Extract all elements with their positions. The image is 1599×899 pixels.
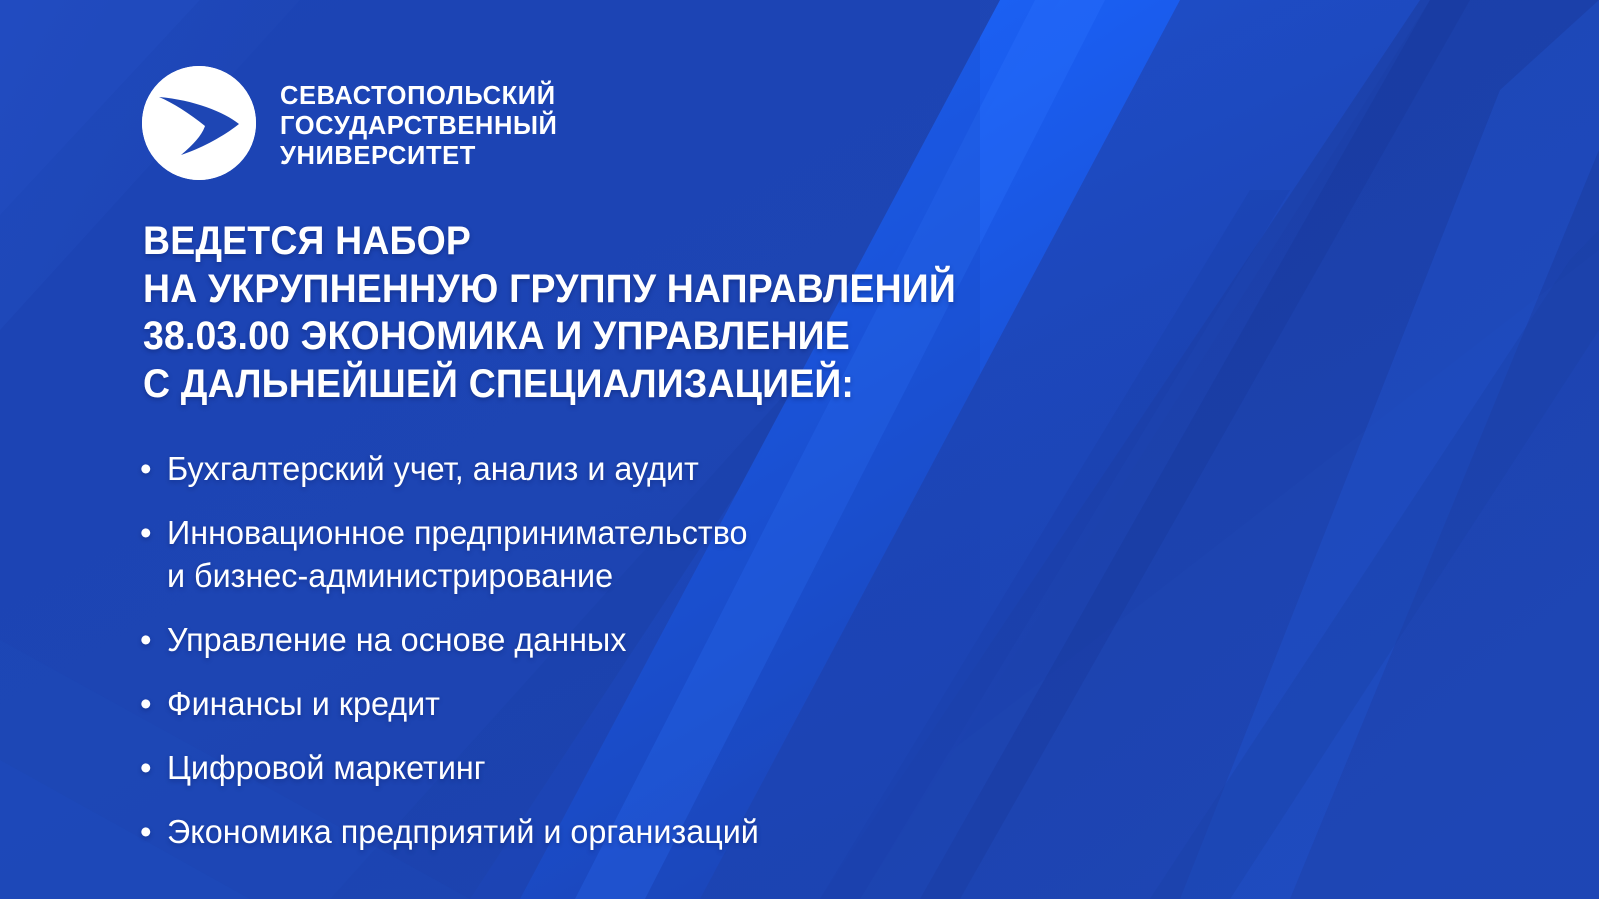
bullet-marker-icon: • [140, 618, 167, 661]
bullet-marker-icon: • [140, 746, 167, 789]
list-item-label: Бухгалтерский учет, анализ и аудит [167, 447, 699, 490]
bullet-marker-icon: • [140, 447, 167, 490]
list-item-label: Финансы и кредит [167, 682, 440, 725]
university-wordmark: СЕВАСТОПОЛЬСКИЙ ГОСУДАРСТВЕННЫЙ УНИВЕРСИ… [280, 81, 557, 171]
headline-line-4: С ДАЛЬНЕЙШЕЙ СПЕЦИАЛИЗАЦИЕЙ: [143, 361, 956, 409]
university-logo-lockup: СЕВАСТОПОЛЬСКИЙ ГОСУДАРСТВЕННЫЙ УНИВЕРСИ… [142, 66, 557, 180]
list-item-label: Экономика предприятий и организаций [167, 810, 759, 853]
headline-line-2: НА УКРУПНЕННУЮ ГРУППУ НАПРАВЛЕНИЙ [143, 266, 956, 314]
list-item: • Экономика предприятий и организаций [140, 810, 771, 853]
bullet-marker-icon: • [140, 682, 167, 725]
list-item: • Цифровой маркетинг [140, 746, 771, 789]
list-item-label: Цифровой маркетинг [167, 746, 486, 789]
headline-line-1: ВЕДЕТСЯ НАБОР [143, 218, 956, 266]
list-item-label: Управление на основе данных [167, 618, 626, 661]
list-item: • Инновационное предпринимательство и би… [140, 511, 771, 597]
list-item: • Финансы и кредит [140, 682, 771, 725]
list-item: • Управление на основе данных [140, 618, 771, 661]
headline-line-3: 38.03.00 ЭКОНОМИКА И УПРАВЛЕНИЕ [143, 313, 956, 361]
bullet-marker-icon: • [140, 810, 167, 853]
wordmark-line-2: ГОСУДАРСТВЕННЫЙ [280, 111, 557, 141]
wordmark-line-1: СЕВАСТОПОЛЬСКИЙ [280, 81, 557, 111]
specialization-list: • Бухгалтерский учет, анализ и аудит • И… [140, 447, 771, 853]
headline: ВЕДЕТСЯ НАБОР НА УКРУПНЕННУЮ ГРУППУ НАПР… [143, 218, 956, 408]
promo-poster: СЕВАСТОПОЛЬСКИЙ ГОСУДАРСТВЕННЫЙ УНИВЕРСИ… [0, 0, 1599, 899]
wordmark-line-3: УНИВЕРСИТЕТ [280, 141, 557, 171]
list-item-label: Инновационное предпринимательство и бизн… [167, 511, 748, 597]
sevgu-arrow-logo-icon [142, 66, 256, 180]
bullet-marker-icon: • [140, 511, 167, 554]
list-item: • Бухгалтерский учет, анализ и аудит [140, 447, 771, 490]
